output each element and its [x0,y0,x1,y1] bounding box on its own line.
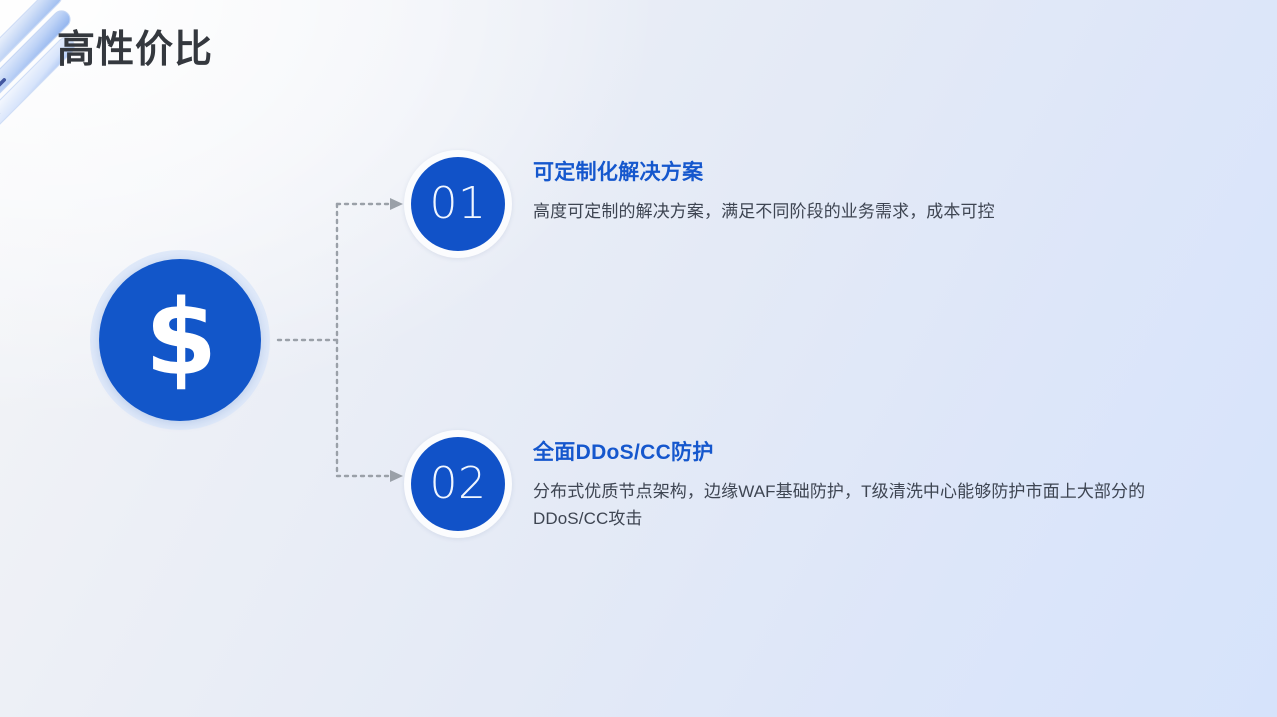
arrow-head-top [390,198,403,210]
feature-description-02: 分布式优质节点架构，边缘WAF基础防护，T级清洗中心能够防护市面上大部分的DDo… [533,479,1178,532]
step-node-01-inner: 01 [411,157,505,251]
connector-lines [270,180,420,510]
step-number-label: 01 [430,182,487,226]
feature-block-02: 全面DDoS/CC防护 分布式优质节点架构，边缘WAF基础防护，T级清洗中心能够… [533,440,1178,532]
arrow-head-bottom [390,470,403,482]
slide-canvas: 高性价比 $ 01 [0,0,1277,717]
page-title: 高性价比 [57,26,213,75]
hub-circle: $ [90,250,270,430]
feature-description-01: 高度可定制的解决方案，满足不同阶段的业务需求，成本可控 [533,199,1178,225]
feature-title-02: 全面DDoS/CC防护 [533,440,1178,465]
step-number-label: 02 [430,462,487,506]
feature-title-01: 可定制化解决方案 [533,160,1178,185]
dollar-sign-icon: $ [145,286,215,390]
step-node-01[interactable]: 01 [404,150,512,258]
step-node-02-inner: 02 [411,437,505,531]
hub-circle-inner: $ [99,259,261,421]
feature-block-01: 可定制化解决方案 高度可定制的解决方案，满足不同阶段的业务需求，成本可控 [533,160,1178,226]
step-node-02[interactable]: 02 [404,430,512,538]
